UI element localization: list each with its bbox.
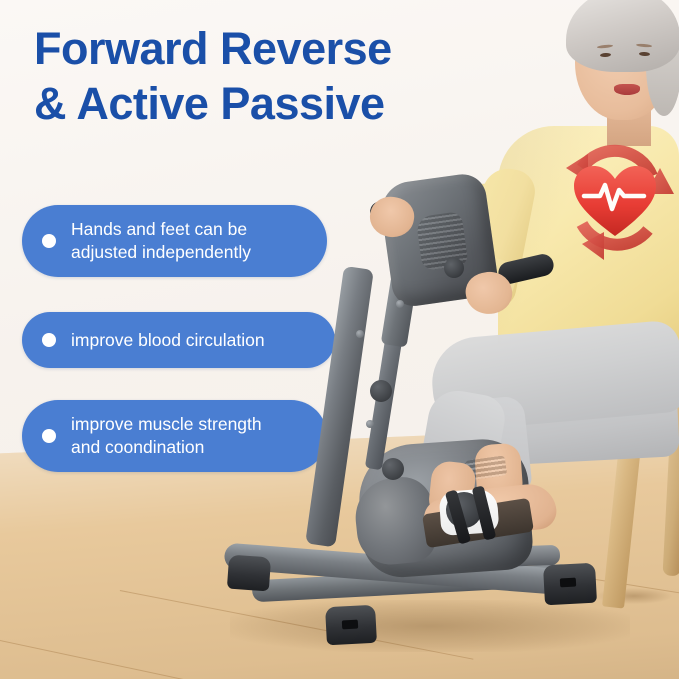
- machine-foot-cap-slot: [560, 578, 576, 588]
- feature-pill-3[interactable]: improve muscle strength and coondination: [22, 400, 327, 472]
- person-hair: [566, 0, 679, 72]
- machine-bolt: [396, 300, 404, 308]
- bullet-dot-icon: [42, 333, 56, 347]
- bullet-dot-icon: [42, 429, 56, 443]
- bullet-dot-icon: [42, 234, 56, 248]
- blood-circulation-icon: [548, 132, 679, 266]
- machine-adjust-knob-upper[interactable]: [370, 380, 392, 402]
- feature-3-line-2: and coondination: [71, 437, 204, 457]
- feature-1-line-2: adjusted independently: [71, 242, 251, 262]
- machine-floor-shadow: [230, 600, 630, 652]
- feature-pill-2-text: improve blood circulation: [71, 329, 287, 352]
- feature-1-line-1: Hands and feet can be: [71, 219, 247, 239]
- machine-adjust-knob-lower[interactable]: [382, 458, 404, 480]
- machine-foot-cap: [227, 555, 271, 592]
- headline-line-1: Forward Reverse: [34, 22, 534, 77]
- machine-bolt: [356, 330, 364, 338]
- machine-bolt: [366, 420, 374, 428]
- machine-tension-knob[interactable]: [444, 258, 464, 278]
- feature-pill-1-text: Hands and feet can be adjusted independe…: [71, 218, 273, 264]
- feature-pill-1[interactable]: Hands and feet can be adjusted independe…: [22, 205, 327, 277]
- product-banner: Forward Reverse & Active Passive Hands a…: [0, 0, 679, 679]
- feature-pill-2[interactable]: improve blood circulation: [22, 312, 335, 368]
- page-title: Forward Reverse & Active Passive: [34, 22, 534, 132]
- person-mouth: [614, 84, 640, 95]
- machine-foot-cap-slot: [342, 620, 358, 630]
- feature-3-line-1: improve muscle strength: [71, 414, 262, 434]
- feature-pill-3-text: improve muscle strength and coondination: [71, 413, 284, 459]
- headline-line-2: & Active Passive: [34, 77, 534, 132]
